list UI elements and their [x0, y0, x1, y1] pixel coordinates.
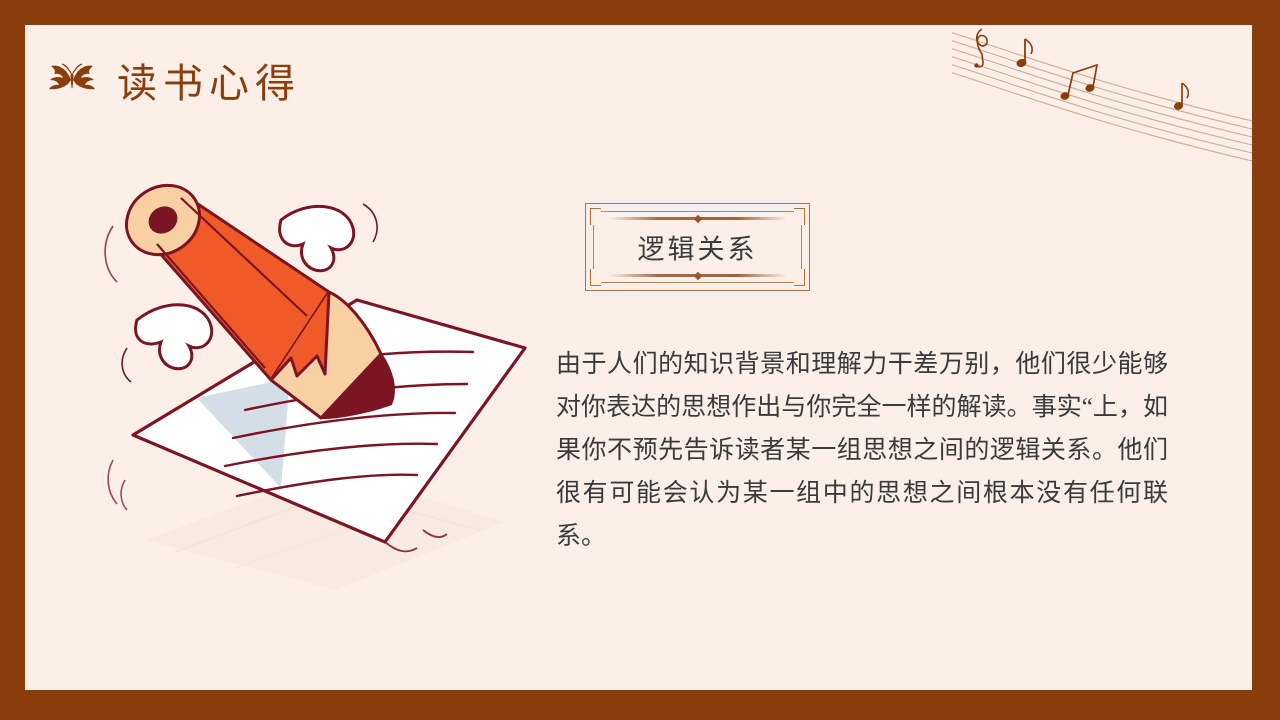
beamed-notes-icon [1059, 65, 1097, 101]
motion-lines-pencil [105, 226, 117, 282]
treble-clef-icon [974, 29, 987, 68]
slide-inner-panel: 读书心得 [25, 25, 1252, 690]
winged-pencil-illustration [85, 170, 565, 620]
slide-root: 读书心得 [0, 0, 1280, 720]
eighth-note-icon-right [1173, 83, 1188, 111]
frame-rule-bottom [608, 274, 787, 277]
frame-corner-bottom-left [590, 269, 601, 286]
butterfly-icon [43, 60, 101, 100]
content-column: 逻辑关系 由于人们的知识背景和理解力干差万别，他们很少能够对你表达的思想作出与你… [556, 203, 1196, 558]
frame-corner-top-right [794, 208, 805, 225]
page-title: 读书心得 [117, 51, 301, 109]
slide-header: 读书心得 [25, 25, 301, 135]
frame-corner-bottom-right [794, 269, 805, 286]
frame-corner-top-left [590, 208, 601, 225]
music-staff-icon [952, 31, 1252, 161]
body-paragraph: 由于人们的知识背景和理解力干差万别，他们很少能够对你表达的思想作出与你完全一样的… [556, 343, 1168, 558]
music-staff-decoration [952, 25, 1252, 165]
section-heading-frame: 逻辑关系 [585, 203, 810, 291]
eighth-note-icon [1016, 39, 1033, 68]
motion-lines-paper [108, 460, 127, 510]
frame-rule-top [608, 217, 787, 220]
section-heading-label: 逻辑关系 [586, 228, 809, 267]
